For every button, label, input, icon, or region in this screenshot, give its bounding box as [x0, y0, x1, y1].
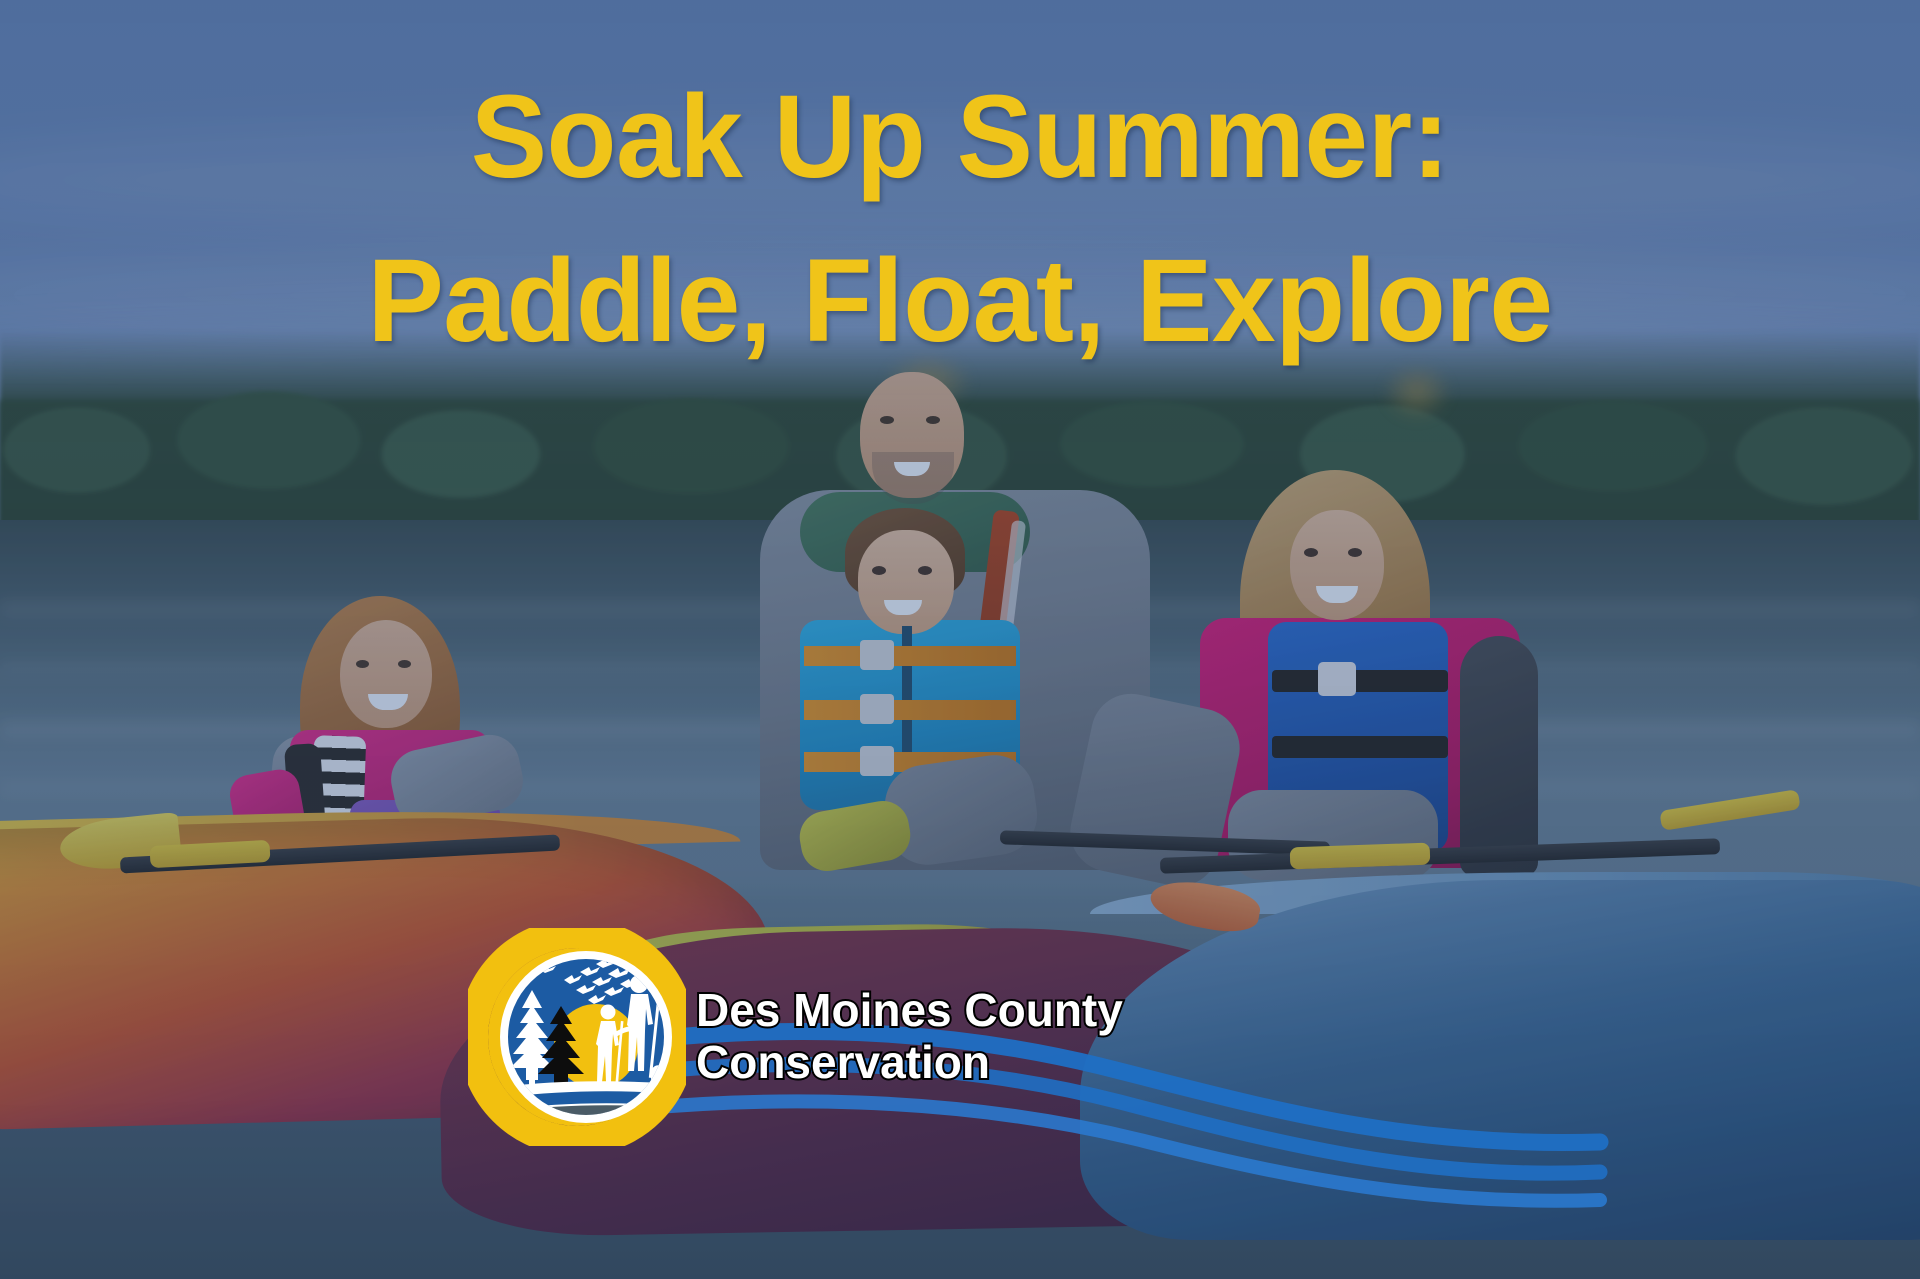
organization-name: Des Moines County Conservation — [696, 985, 1123, 1088]
organization-name-line-2: Conservation — [696, 1037, 1123, 1089]
headline-line-1: Soak Up Summer: — [29, 78, 1891, 196]
organization-name-line-1: Des Moines County — [696, 985, 1123, 1037]
des-moines-county-conservation-logo-icon — [468, 928, 686, 1146]
promotional-poster: Soak Up Summer: Paddle, Float, Explore — [0, 0, 1920, 1279]
headline-block: Soak Up Summer: Paddle, Float, Explore — [0, 78, 1920, 360]
headline-line-2: Paddle, Float, Explore — [29, 242, 1891, 360]
organization-logo-lockup: Des Moines County Conservation — [468, 928, 1123, 1146]
